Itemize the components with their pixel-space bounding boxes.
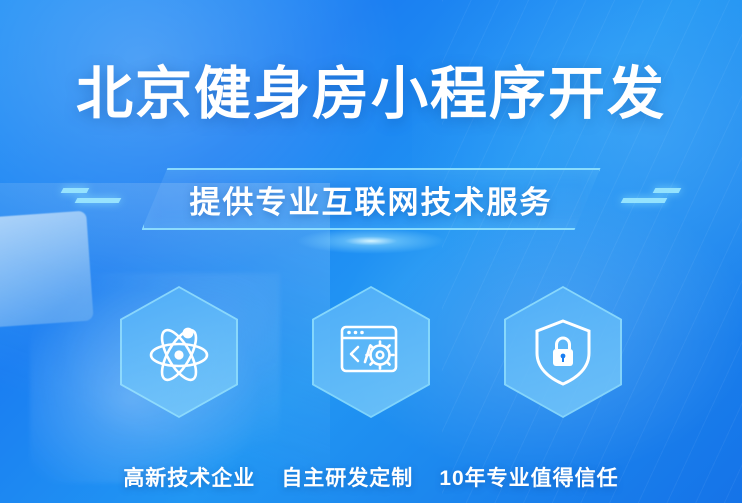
subtitle-text: 提供专业互联网技术服务 [190,177,553,222]
feature-item [115,286,243,418]
feature-label-3: 10年专业值得信任 [439,462,618,492]
feature-label-2: 自主研发定制 [281,462,413,492]
hex-frame [504,286,622,418]
promo-banner: 北京健身房小程序开发 提供专业互联网技术服务 [0,0,742,503]
page-title: 北京健身房小程序开发 [0,48,742,130]
feature-list [0,286,742,418]
subtitle-ribbon: 提供专业互联网技术服务 [142,168,601,230]
hex-frame [120,286,238,418]
background-glow-left [0,0,400,280]
light-spark [296,228,446,254]
subtitle-ribbon-wrap: 提供专业互联网技术服务 [0,168,742,230]
feature-labels: 高新技术企业 自主研发定制 10年专业值得信任 [0,440,742,492]
feature-label-1: 高新技术企业 [123,462,255,492]
shield-lock-icon [532,316,594,388]
hex-frame [312,286,430,418]
code-window-gear-icon [334,317,408,387]
feature-item [307,286,435,418]
feature-item [499,286,627,418]
atom-icon [142,315,216,389]
